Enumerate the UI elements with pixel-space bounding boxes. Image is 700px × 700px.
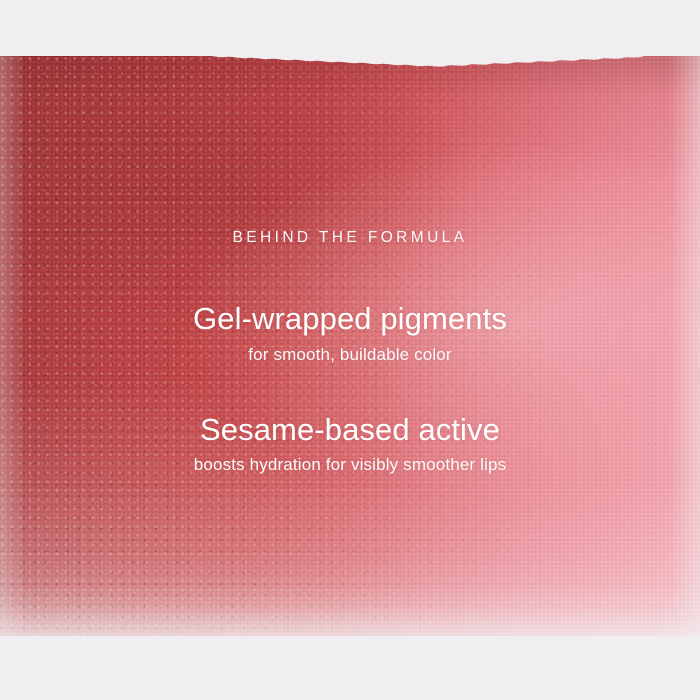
formula-claim-2-subtitle: boosts hydration for visibly smoother li…	[0, 455, 700, 475]
product-formula-card: BEHIND THE FORMULA Gel-wrapped pigments …	[0, 0, 700, 700]
formula-claim-2-title: Sesame-based active	[0, 414, 700, 445]
formula-copy-overlay: BEHIND THE FORMULA Gel-wrapped pigments …	[0, 0, 700, 700]
formula-claim-1-title: Gel-wrapped pigments	[0, 303, 700, 334]
formula-claim-1: Gel-wrapped pigments for smooth, buildab…	[0, 303, 700, 365]
section-eyebrow-label: BEHIND THE FORMULA	[0, 230, 700, 246]
formula-claim-2: Sesame-based active boosts hydration for…	[0, 414, 700, 475]
formula-claim-1-subtitle: for smooth, buildable color	[0, 345, 700, 365]
